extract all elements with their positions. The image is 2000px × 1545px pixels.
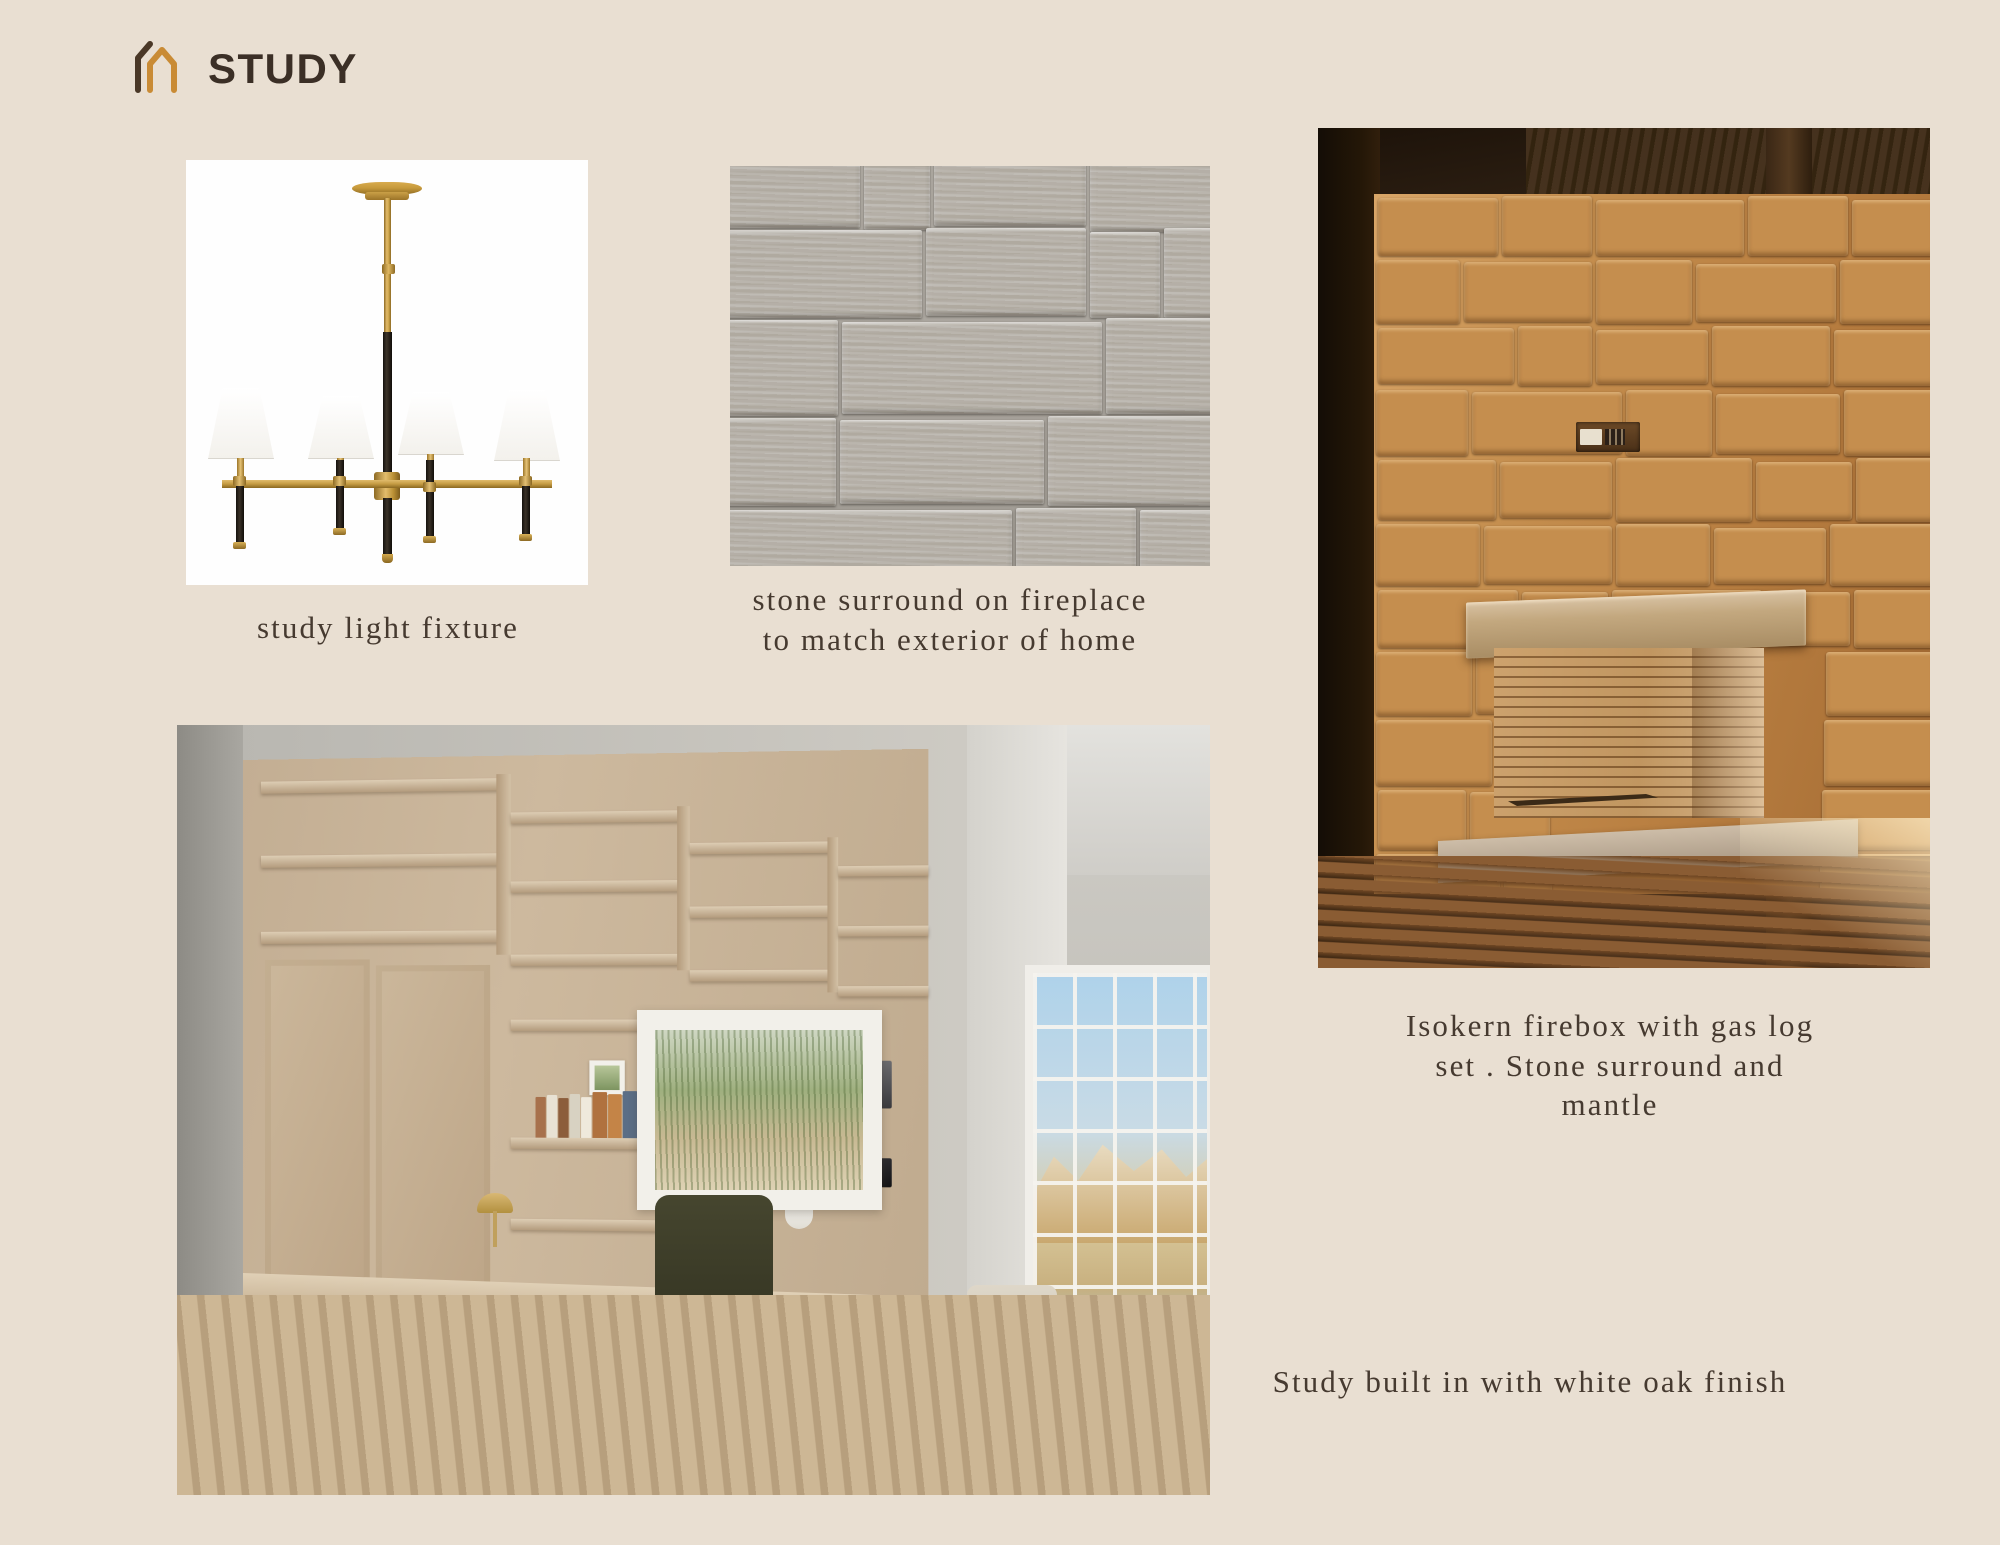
caption-study-built-in: Study built in with white oak finish <box>1250 1362 1810 1402</box>
study-interior-render <box>177 725 1210 1495</box>
shade-4 <box>494 390 560 461</box>
collar-4 <box>519 476 532 486</box>
finial <box>382 554 393 563</box>
foot-1 <box>233 542 246 549</box>
left-shadow-wall <box>1318 128 1380 968</box>
lower-black-stem <box>383 498 392 556</box>
foot-3 <box>423 536 436 543</box>
chandelier-illustration <box>186 160 588 585</box>
caption-light-fixture: study light fixture <box>158 608 618 648</box>
study-light-fixture-photo <box>186 160 588 585</box>
collar-3 <box>423 482 436 492</box>
shade-3 <box>398 392 464 455</box>
switch-plate-niche <box>1576 422 1640 452</box>
board-header: STUDY <box>128 38 358 96</box>
wood-floor <box>177 1295 1210 1495</box>
ashlar-stone-pattern <box>730 166 1210 566</box>
shade-1 <box>208 388 274 459</box>
outdoor-fireplace-photo <box>1318 128 1930 968</box>
sunlight-patch <box>1740 818 1930 968</box>
caption-stone-surround: stone surround on fireplace to match ext… <box>740 580 1160 659</box>
stem-knob <box>382 264 395 274</box>
small-framed-art <box>589 1060 624 1095</box>
foot-2 <box>333 528 346 535</box>
switch-label-plate <box>1580 429 1602 445</box>
mood-board-page: STUDY <box>0 0 2000 1545</box>
house-outline-icon <box>128 38 194 96</box>
drop-2 <box>336 460 344 530</box>
firebox-side-wall <box>1692 648 1764 818</box>
shade-2 <box>308 396 374 459</box>
drop-3 <box>426 460 434 538</box>
dune-grass-artwork <box>655 1030 863 1190</box>
fire-grate <box>1508 794 1658 806</box>
page-title: STUDY <box>208 44 358 90</box>
caption-isokern-firebox: Isokern firebox with gas log set . Stone… <box>1400 1006 1820 1125</box>
stone-texture-photo <box>730 166 1210 566</box>
black-stem <box>383 332 392 482</box>
left-arm <box>222 480 387 488</box>
firebox-opening <box>1494 648 1764 818</box>
toggle-switches <box>1605 429 1625 445</box>
drop-1 <box>236 478 244 544</box>
bluff-landscape <box>1033 1123 1207 1243</box>
foot-4 <box>519 534 532 541</box>
drop-4 <box>522 478 530 536</box>
collar-2 <box>333 476 346 486</box>
collar-1 <box>233 476 246 486</box>
table-lamp-stem <box>493 1211 497 1247</box>
